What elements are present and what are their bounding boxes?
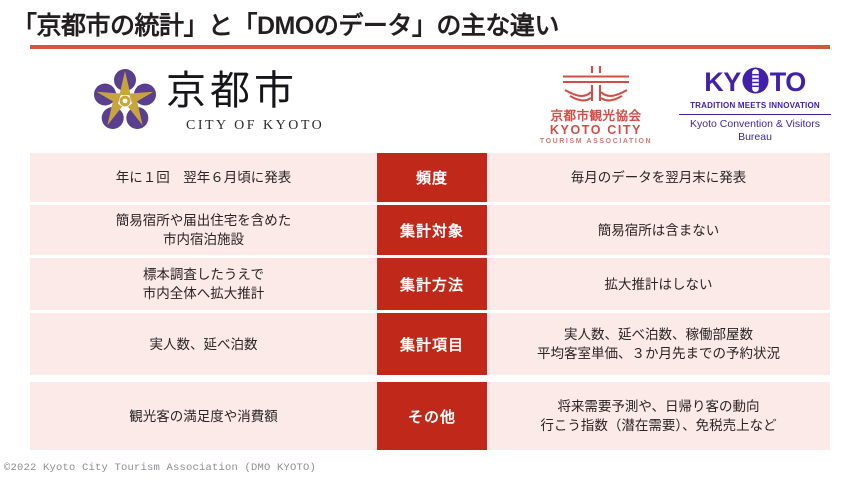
row-label-scope: 集計対象 — [377, 205, 487, 255]
row-label-other: その他 — [377, 382, 487, 450]
kyoto-cvb-lantern-icon — [741, 66, 770, 100]
tourism-association-en2: TOURISM ASSOCIATION — [537, 137, 655, 147]
cell-kyoto-city-stat: 観光客の満足度や消費額 — [30, 382, 377, 450]
title-underline-rule — [30, 45, 830, 49]
tourism-association-jp: 京都市観光協会 — [537, 109, 655, 123]
cell-kyoto-city-stat: 実人数、延べ泊数 — [30, 313, 377, 375]
kyoto-cvb-logo: KY TO TRADITION MEETS INNOVATION Kyoto C… — [676, 66, 834, 140]
copyright-footer: ©2022 Kyoto City Tourism Association (DM… — [4, 462, 316, 474]
kyoto-city-subtitle: CITY OF KYOTO — [186, 118, 324, 134]
kyoto-city-wordmark: 京都市 — [166, 68, 298, 114]
cell-kyoto-city-stat: 簡易宿所や届出住宅を含めた市内宿泊施設 — [30, 205, 377, 255]
tourism-association-en1: KYOTO CITY — [537, 123, 655, 137]
tourism-association-mark-icon — [537, 91, 655, 108]
cell-dmo-data: 拡大推計はしない — [487, 258, 830, 310]
cell-dmo-data: 将来需要予測や、日帰り客の動向行こう指数（潜在需要）、免税売上など — [487, 382, 830, 450]
tourism-association-logo: 京都市観光協会 KYOTO CITY TOURISM ASSOCIATION — [537, 64, 655, 140]
cell-dmo-data: 実人数、延べ泊数、稼働部屋数平均客室単価、３か月先までの予約状況 — [487, 313, 830, 375]
table-row: 年に１回 翌年６月頃に発表 頻度 毎月のデータを翌月末に発表 — [30, 153, 830, 202]
table-row: 実人数、延べ泊数 集計項目 実人数、延べ泊数、稼働部屋数平均客室単価、３か月先ま… — [30, 313, 830, 375]
cvb-subtitle: Kyoto Convention & Visitors Bureau — [676, 118, 834, 144]
kyoto-city-logo: 京都市 CITY OF KYOTO — [92, 66, 342, 144]
row-label-method: 集計方法 — [377, 258, 487, 310]
page-title: 「京都市の統計」と「DMOのデータ」の主な違い — [12, 6, 559, 42]
table-row: 簡易宿所や届出住宅を含めた市内宿泊施設 集計対象 簡易宿所は含まない — [30, 205, 830, 255]
cvb-divider — [679, 114, 831, 115]
cell-dmo-data: 簡易宿所は含まない — [487, 205, 830, 255]
row-label-items: 集計項目 — [377, 313, 487, 375]
logo-band: 京都市 CITY OF KYOTO 京都市観光協会 — [0, 58, 860, 150]
cvb-tagline: TRADITION MEETS INNOVATION — [676, 100, 834, 111]
cell-dmo-data: 毎月のデータを翌月末に発表 — [487, 153, 830, 202]
cell-kyoto-city-stat: 標本調査したうえで市内全体へ拡大推計 — [30, 258, 377, 310]
cell-kyoto-city-stat: 年に１回 翌年６月頃に発表 — [30, 153, 377, 202]
cvb-wordmark-right: TO — [770, 68, 806, 97]
kyoto-city-emblem-icon — [92, 68, 158, 134]
table-row: 観光客の満足度や消費額 その他 将来需要予測や、日帰り客の動向行こう指数（潜在需… — [30, 382, 830, 450]
table-row: 標本調査したうえで市内全体へ拡大推計 集計方法 拡大推計はしない — [30, 258, 830, 310]
row-label-frequency: 頻度 — [377, 153, 487, 202]
cvb-wordmark-left: KY — [704, 68, 741, 97]
